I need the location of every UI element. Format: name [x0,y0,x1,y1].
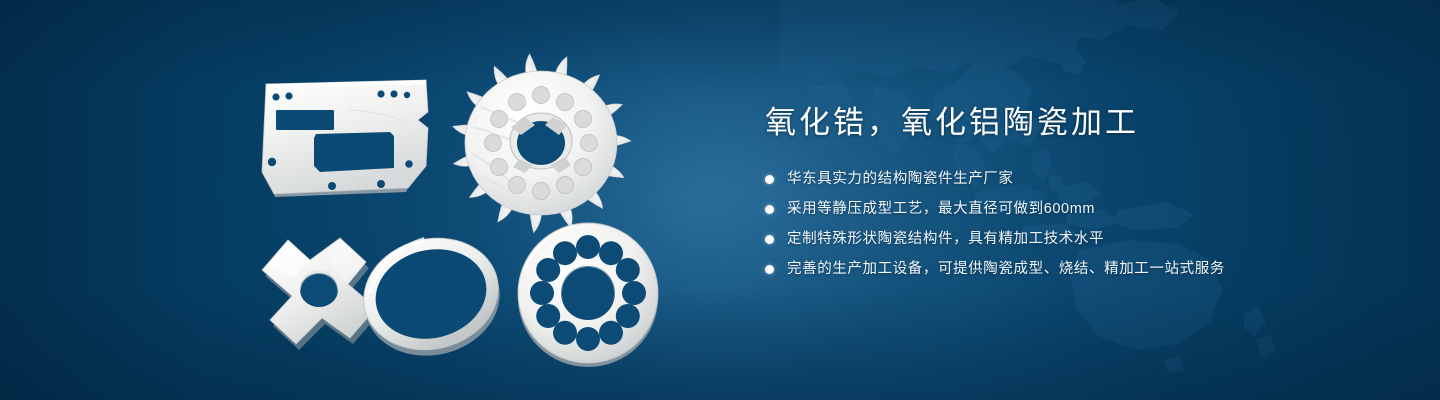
feature-list-item: 完善的生产加工设备，可提供陶瓷成型、烧结、精加工一站式服务 [765,259,1385,280]
banner-text-block: 氧化锆，氧化铝陶瓷加工 华东具实力的结构陶瓷件生产厂家 采用等静压成型工艺，最大… [765,104,1385,289]
feature-list-item: 采用等静压成型工艺，最大直径可做到600mm [765,199,1385,220]
feature-list-item: 华东具实力的结构陶瓷件生产厂家 [765,169,1385,190]
banner-title: 氧化锆，氧化铝陶瓷加工 [765,104,1385,143]
feature-text: 完善的生产加工设备，可提供陶瓷成型、烧结、精加工一站式服务 [787,259,1225,280]
feature-text: 华东具实力的结构陶瓷件生产厂家 [787,169,1014,190]
ceramic-ring [352,228,510,360]
bullet-dot-icon [765,235,774,244]
ceramic-plate [248,76,448,202]
product-photo-group [0,0,720,400]
ceramic-perforated-disc [512,218,664,368]
bullet-dot-icon [765,175,774,184]
feature-text: 采用等静压成型工艺，最大直径可做到600mm [787,199,1095,220]
bullet-dot-icon [765,265,774,274]
feature-list-item: 定制特殊形状陶瓷结构件，具有精加工技术水平 [765,229,1385,250]
ceramic-impeller [448,48,634,234]
hero-banner: 氧化锆，氧化铝陶瓷加工 华东具实力的结构陶瓷件生产厂家 采用等静压成型工艺，最大… [0,0,1440,400]
feature-list: 华东具实力的结构陶瓷件生产厂家 采用等静压成型工艺，最大直径可做到600mm 定… [765,169,1385,280]
bullet-dot-icon [765,205,774,214]
feature-text: 定制特殊形状陶瓷结构件，具有精加工技术水平 [787,229,1104,250]
